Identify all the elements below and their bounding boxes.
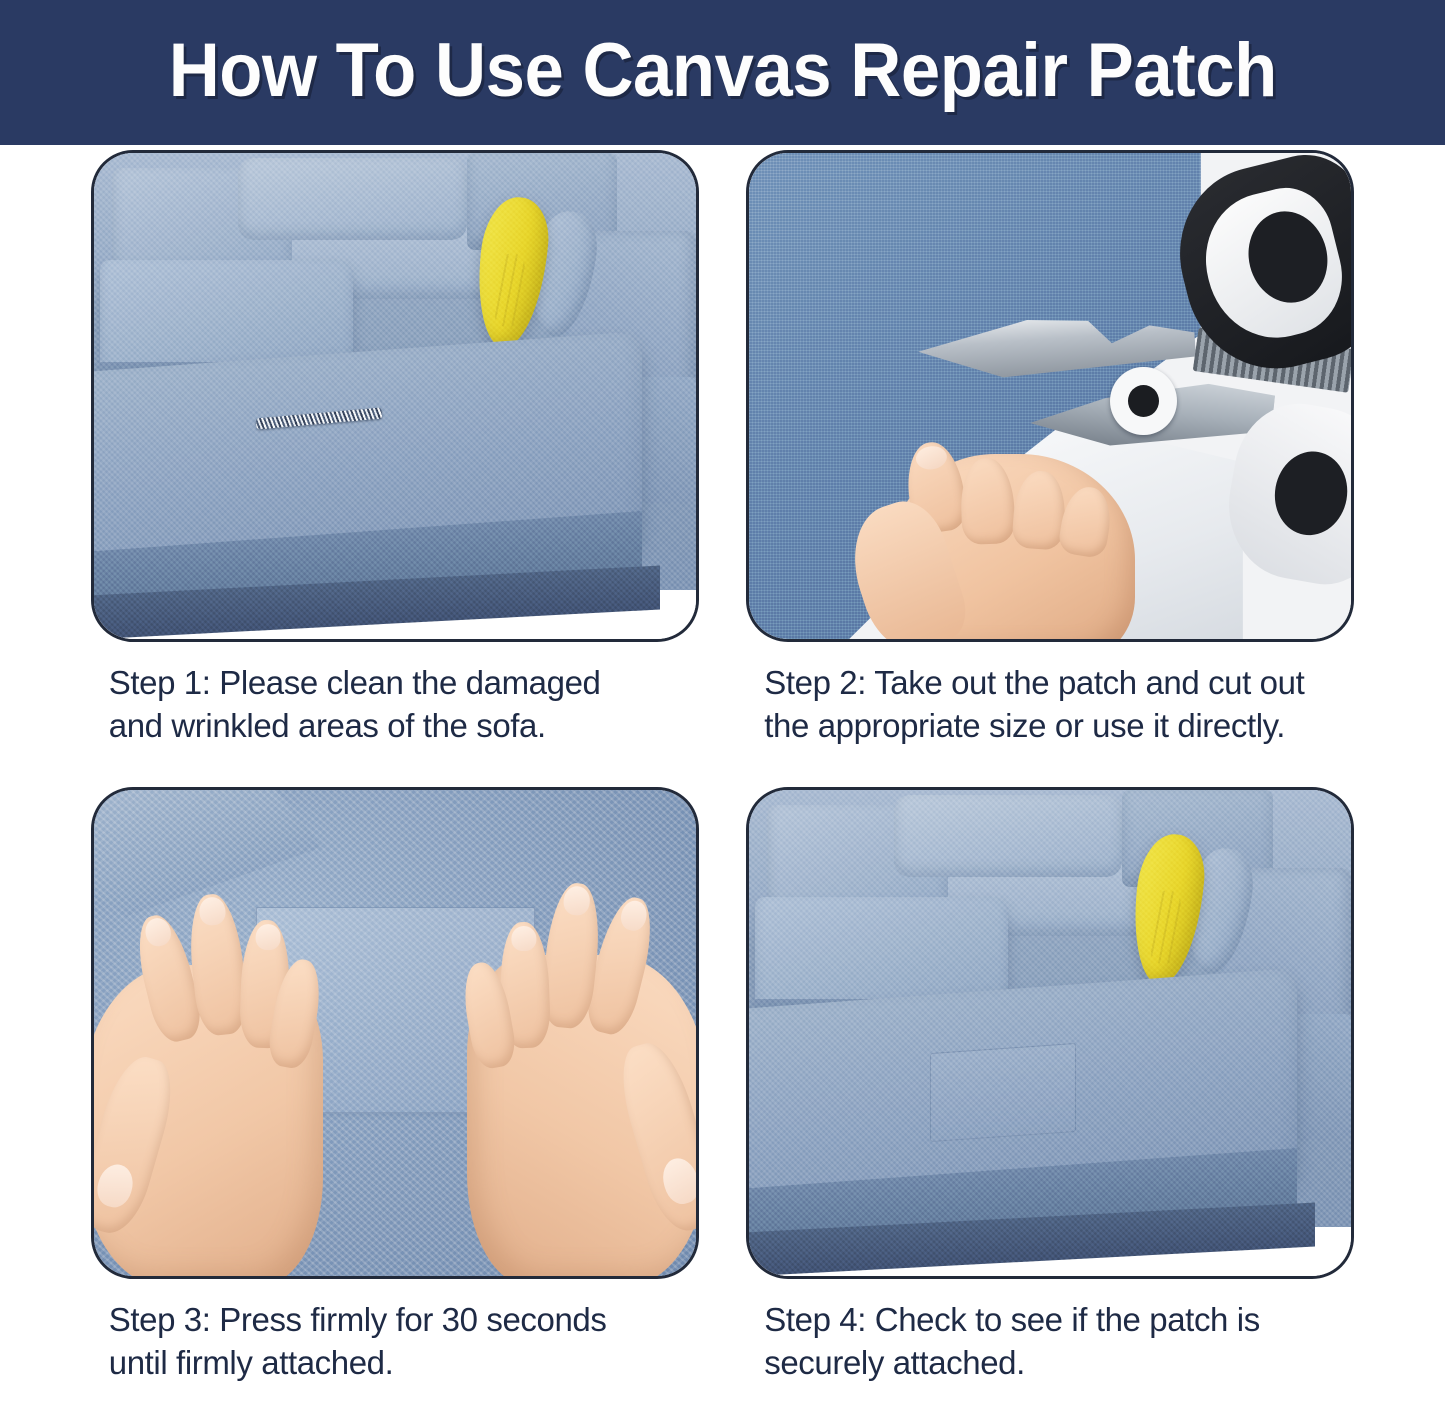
header-banner: How To Use Canvas Repair Patch <box>0 0 1445 145</box>
step-4-caption-line-2: securely attached. <box>764 1344 1025 1381</box>
step-4-photo-inner <box>749 790 1351 1276</box>
left-thumbnail <box>94 1160 137 1211</box>
sofa-back-cushion-middle <box>894 795 1123 878</box>
step-4-photo <box>746 787 1354 1279</box>
finger-middle <box>960 457 1016 545</box>
scissors-pivot-screw <box>1110 367 1176 435</box>
step-4-caption-line-1: Step 4: Check to see if the patch is <box>764 1301 1260 1338</box>
scissors-cutting-illustration <box>749 153 1351 639</box>
step-1-caption-line-1: Step 1: Please clean the damaged <box>109 664 601 701</box>
step-2-photo-inner <box>749 153 1351 639</box>
right-thumbnail <box>658 1154 696 1208</box>
step-card-2: Step 2: Take out the patch and cut out t… <box>744 150 1358 769</box>
step-3-caption-line-1: Step 3: Press firmly for 30 seconds <box>109 1301 607 1338</box>
applied-repair-patch <box>930 1042 1076 1142</box>
step-1-caption-line-2: and wrinkled areas of the sofa. <box>109 707 546 744</box>
step-1-caption: Step 1: Please clean the damaged and wri… <box>91 662 699 748</box>
left-fingernail-ring <box>254 924 280 951</box>
right-fingernail-middle <box>563 884 592 916</box>
step-3-caption: Step 3: Press firmly for 30 seconds unti… <box>91 1299 699 1385</box>
left-fingernail-middle <box>199 896 228 927</box>
step-3-photo-inner <box>94 790 696 1276</box>
step-3-photo <box>91 787 699 1279</box>
sofa-illustration-damaged <box>94 153 696 639</box>
steps-grid: Step 1: Please clean the damaged and wri… <box>0 150 1445 1406</box>
step-2-caption-line-1: Step 2: Take out the patch and cut out <box>764 664 1304 701</box>
step-2-caption-line-2: the appropriate size or use it directly. <box>764 707 1285 744</box>
right-fingernail-ring <box>510 926 536 952</box>
step-2-photo <box>746 150 1354 642</box>
left-hand <box>94 965 323 1276</box>
step-card-3: Step 3: Press firmly for 30 seconds unti… <box>88 787 702 1406</box>
step-3-caption-line-2: until firmly attached. <box>109 1344 394 1381</box>
pressing-patch-illustration <box>94 790 696 1276</box>
step-2-caption: Step 2: Take out the patch and cut out t… <box>746 662 1354 748</box>
fingernail-index <box>915 444 949 471</box>
sofa-illustration-repaired <box>749 790 1351 1276</box>
step-4-caption: Step 4: Check to see if the patch is sec… <box>746 1299 1354 1385</box>
sofa-back-cushion-middle <box>238 158 467 241</box>
step-card-1: Step 1: Please clean the damaged and wri… <box>88 150 702 769</box>
right-hand <box>467 955 696 1276</box>
page-title: How To Use Canvas Repair Patch <box>168 33 1276 113</box>
finger-pinky <box>1057 484 1115 560</box>
right-thumb <box>610 1036 695 1238</box>
step-1-photo <box>91 150 699 642</box>
right-fingernail-index <box>618 897 650 933</box>
step-1-photo-inner <box>94 153 696 639</box>
step-card-4: Step 4: Check to see if the patch is sec… <box>744 787 1358 1406</box>
left-thumb <box>94 1050 183 1240</box>
